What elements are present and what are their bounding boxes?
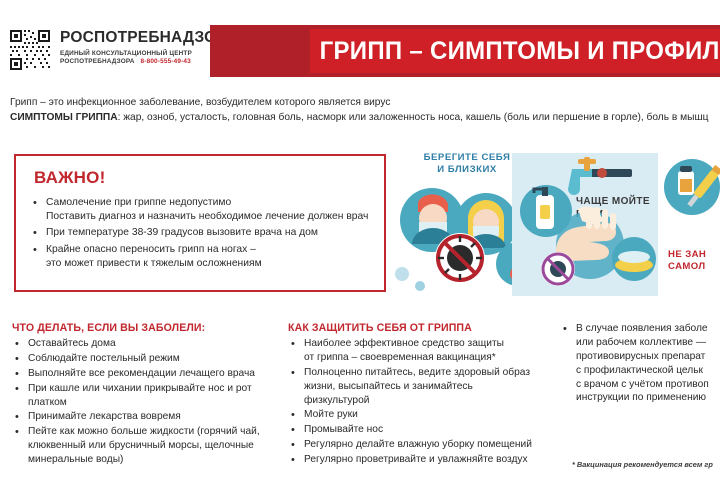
list-item-line: Соблюдайте постельный режим bbox=[28, 353, 180, 364]
important-item-line2: это может привести к тяжелым осложнениям bbox=[46, 257, 372, 271]
brand-subtitle-line2: РОСПОТРЕБНАДЗОРА 8-800-555-49-43 bbox=[60, 58, 227, 66]
intro-line-1: Грипп – это инфекционное заболевание, во… bbox=[10, 96, 720, 111]
important-box: ВАЖНО! • Самолечение при гриппе недопуст… bbox=[14, 154, 386, 292]
brand-text: РОСПОТРЕБНАДЗОР ЕДИНЫЙ КОНСУЛЬТАЦИОННЫЙ … bbox=[60, 28, 227, 66]
list-item-line: Регулярно проветривайте и увлажняйте воз… bbox=[304, 454, 528, 465]
list-item-line: с врачом с учётом противоп bbox=[576, 378, 720, 392]
list-item: •Соблюдайте постельный режим bbox=[12, 352, 280, 366]
list-item-line: Выполняйте все рекомендации лечащего вра… bbox=[28, 368, 255, 379]
bullet-icon: • bbox=[291, 337, 295, 352]
list-item-line: Наиболее эффективное средство защиты bbox=[304, 337, 548, 351]
important-item: • При температуре 38-39 градусов вызовит… bbox=[46, 226, 372, 240]
bullet-icon: • bbox=[291, 423, 295, 438]
important-title: ВАЖНО! bbox=[34, 168, 384, 188]
bullet-icon: • bbox=[15, 337, 19, 352]
title-bar-inner: ГРИПП – СИМПТОМЫ И ПРОФИЛАКТИКА bbox=[310, 29, 720, 73]
symptoms-text: : жар, озноб, усталость, головная боль, … bbox=[118, 112, 709, 123]
important-item-line1: Самолечение при гриппе недопустимо bbox=[46, 197, 231, 208]
column-what-to-do-list: •Оставайтесь дома •Соблюдайте постельный… bbox=[12, 337, 280, 467]
soap-bar-icon bbox=[612, 237, 656, 281]
list-item-line: Оставайтесь дома bbox=[28, 338, 116, 349]
panel-vaccine-caption: НЕ ЗАН САМОЛ bbox=[668, 249, 706, 274]
bullet-icon: • bbox=[15, 367, 19, 382]
column-what-to-do-heading: ЧТО ДЕЛАТЬ, ЕСЛИ ВЫ ЗАБОЛЕЛИ: bbox=[12, 322, 280, 334]
list-item-line: минеральные воды) bbox=[28, 453, 280, 467]
bullet-icon: • bbox=[291, 366, 295, 381]
important-list: • Самолечение при гриппе недопустимо Пос… bbox=[16, 196, 384, 271]
bullet-icon: • bbox=[291, 453, 295, 468]
list-item-line: или рабочем коллективе — bbox=[576, 336, 720, 350]
list-item: •Оставайтесь дома bbox=[12, 337, 280, 351]
qr-code-icon bbox=[8, 28, 52, 72]
faucet-icon bbox=[568, 157, 632, 195]
bullet-icon: • bbox=[15, 352, 19, 367]
brand-subtitle-org: РОСПОТРЕБНАДЗОРА bbox=[60, 58, 135, 66]
symptoms-label: СИМПТОМЫ ГРИППА bbox=[10, 112, 118, 123]
list-item-line: Пейте как можно больше жидкости (горячий… bbox=[28, 425, 280, 439]
list-item-line: Принимайте лекарства вовремя bbox=[28, 411, 181, 422]
panel-protect-caption: БЕРЕГИТЕ СЕБЯ И БЛИЗКИХ bbox=[412, 152, 522, 176]
page-title: ГРИПП – СИМПТОМЫ И ПРОФИЛАКТИКА bbox=[310, 37, 720, 66]
panel-vaccine-caption-line2: САМОЛ bbox=[668, 261, 706, 272]
poster-root: РОСПОТРЕБНАДЗОР ЕДИНЫЙ КОНСУЛЬТАЦИОННЫЙ … bbox=[0, 0, 720, 480]
virus-blocked-icon bbox=[435, 233, 485, 283]
bullet-icon: • bbox=[15, 410, 19, 425]
bullet-icon: • bbox=[15, 425, 19, 440]
brand-name: РОСПОТРЕБНАДЗОР bbox=[60, 30, 227, 46]
virus-blocked-icon bbox=[541, 252, 575, 286]
panel-vaccine-caption-line1: НЕ ЗАН bbox=[668, 249, 706, 260]
intro-line-2: СИМПТОМЫ ГРИППА: жар, озноб, усталость, … bbox=[10, 111, 720, 126]
list-item-line: противовирусных препарат bbox=[576, 350, 720, 364]
list-item-line: с профилактической цельк bbox=[576, 364, 720, 378]
important-item: • Крайне опасно переносить грипп на нога… bbox=[46, 243, 372, 271]
list-item-line: физкультурой bbox=[304, 394, 548, 408]
important-item-line2: Поставить диагноз и назначить необходимо… bbox=[46, 210, 372, 224]
list-item: • Полноценно питайтесь, ведите здоровый … bbox=[288, 366, 548, 408]
list-item: •Регулярно проветривайте и увлажняйте во… bbox=[288, 453, 548, 467]
bullet-icon: • bbox=[291, 438, 295, 453]
list-item: • При кашле или чихании прикрывайте нос … bbox=[12, 382, 280, 410]
list-item-line: Регулярно делайте влажную уборку помещен… bbox=[304, 439, 532, 450]
list-item-line: инструкции по применению bbox=[576, 391, 720, 405]
list-item-line: от гриппа – своевременная вакцинация* bbox=[304, 351, 548, 365]
bullet-icon: • bbox=[15, 382, 19, 397]
bullet-icon: • bbox=[291, 408, 295, 423]
brand-block: РОСПОТРЕБНАДЗОР ЕДИНЫЙ КОНСУЛЬТАЦИОННЫЙ … bbox=[8, 28, 227, 72]
brand-subtitle-line1: ЕДИНЫЙ КОНСУЛЬТАЦИОННЫЙ ЦЕНТР bbox=[60, 50, 227, 58]
column-what-to-do: ЧТО ДЕЛАТЬ, ЕСЛИ ВЫ ЗАБОЛЕЛИ: •Оставайте… bbox=[12, 322, 280, 468]
illustration-strip: БЕРЕГИТЕ СЕБЯ И БЛИЗКИХ bbox=[390, 150, 720, 296]
bullet-icon: • bbox=[563, 322, 567, 337]
list-item: •Мойте руки bbox=[288, 408, 548, 422]
list-item: •Выполняйте все рекомендации лечащего вр… bbox=[12, 367, 280, 381]
list-item-line: жизни, высыпайтесь и занимайтесь bbox=[304, 380, 548, 394]
hotline-phone: 8-800-555-49-43 bbox=[141, 58, 191, 66]
vaccine-vial-syringe-icon bbox=[664, 159, 720, 215]
important-item-line1: При температуре 38-39 градусов вызовите … bbox=[46, 227, 318, 238]
column-how-to-protect: КАК ЗАЩИТИТЬ СЕБЯ ОТ ГРИППА • Наиболее э… bbox=[288, 322, 548, 468]
illustration-panel-vaccine: НЕ ЗАН САМОЛ bbox=[662, 153, 720, 296]
advice-columns: ЧТО ДЕЛАТЬ, ЕСЛИ ВЫ ЗАБОЛЕЛИ: •Оставайте… bbox=[0, 322, 720, 480]
bullet-icon: • bbox=[33, 226, 37, 241]
list-item: • Наиболее эффективное средство защиты о… bbox=[288, 337, 548, 365]
list-item: • В случае появления заболе или рабочем … bbox=[560, 322, 720, 405]
list-item: • Пейте как можно больше жидкости (горяч… bbox=[12, 425, 280, 467]
poster-header: РОСПОТРЕБНАДЗОР ЕДИНЫЙ КОНСУЛЬТАЦИОННЫЙ … bbox=[0, 22, 720, 84]
column-antiviral-advice: • В случае появления заболе или рабочем … bbox=[560, 322, 720, 406]
list-item: •Регулярно делайте влажную уборку помеще… bbox=[288, 438, 548, 452]
list-item: •Принимайте лекарства вовремя bbox=[12, 410, 280, 424]
list-item-line: Мойте руки bbox=[304, 409, 358, 420]
intro-block: Грипп – это инфекционное заболевание, во… bbox=[10, 96, 720, 126]
important-item-line1: Крайне опасно переносить грипп на ногах … bbox=[46, 244, 256, 255]
list-item: •Промывайте нос bbox=[288, 423, 548, 437]
panel-protect-caption-line1: БЕРЕГИТЕ СЕБЯ bbox=[424, 152, 511, 163]
list-item-line: Промывайте нос bbox=[304, 424, 383, 435]
column-antiviral-list: • В случае появления заболе или рабочем … bbox=[560, 322, 720, 405]
column-how-to-protect-list: • Наиболее эффективное средство защиты о… bbox=[288, 337, 548, 467]
vaccination-footnote: * Вакцинация рекомендуется всем гр bbox=[572, 460, 720, 469]
column-how-to-protect-heading: КАК ЗАЩИТИТЬ СЕБЯ ОТ ГРИППА bbox=[288, 322, 548, 334]
illustration-panel-wash: ЧАЩЕ МОЙТЕ РУКИ bbox=[512, 153, 658, 296]
list-item-line: платком bbox=[28, 396, 280, 410]
important-item: • Самолечение при гриппе недопустимо Пос… bbox=[46, 196, 372, 224]
bullet-icon: • bbox=[33, 243, 37, 258]
title-bar: ГРИПП – СИМПТОМЫ И ПРОФИЛАКТИКА bbox=[210, 25, 720, 77]
list-item-line: клюквенный или брусничный морсы, щелочны… bbox=[28, 439, 280, 453]
list-item-line: При кашле или чихании прикрывайте нос и … bbox=[28, 382, 280, 396]
bullet-icon: • bbox=[33, 196, 37, 211]
list-item-line: Полноценно питайтесь, ведите здоровый об… bbox=[304, 366, 548, 380]
panel-protect-caption-line2: И БЛИЗКИХ bbox=[437, 164, 497, 175]
list-item-line: В случае появления заболе bbox=[576, 322, 720, 336]
